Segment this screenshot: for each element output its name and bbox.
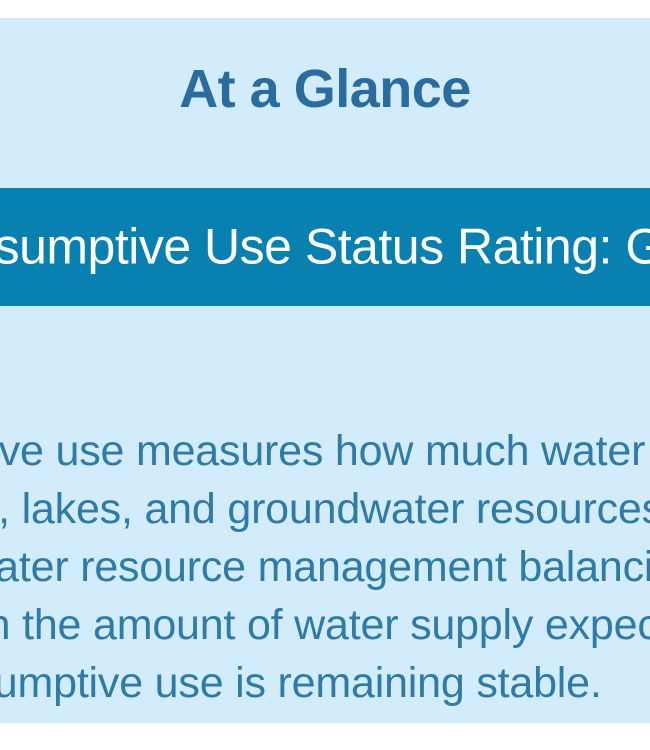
summary-panel: At a Glance Consumptive Use Status Ratin… bbox=[0, 18, 650, 723]
summary-line: while consumptive use is remaining stabl… bbox=[0, 654, 650, 712]
at-a-glance-page: At a Glance Consumptive Use Status Ratin… bbox=[0, 0, 650, 750]
summary-line: Consumptive use measures how much water … bbox=[0, 422, 650, 480]
status-rating-banner: Consumptive Use Status Rating: Good bbox=[0, 188, 650, 306]
summary-line: local rivers, lakes, and groundwater res… bbox=[0, 480, 650, 538]
page-title: At a Glance bbox=[0, 62, 650, 116]
summary-line: needs, with the amount of water supply e… bbox=[0, 596, 650, 654]
status-rating-label: Consumptive Use Status Rating: Good bbox=[0, 220, 650, 275]
summary-paragraph: Consumptive use measures how much water … bbox=[0, 422, 650, 712]
summary-line: effective water resource management bala… bbox=[0, 538, 650, 596]
